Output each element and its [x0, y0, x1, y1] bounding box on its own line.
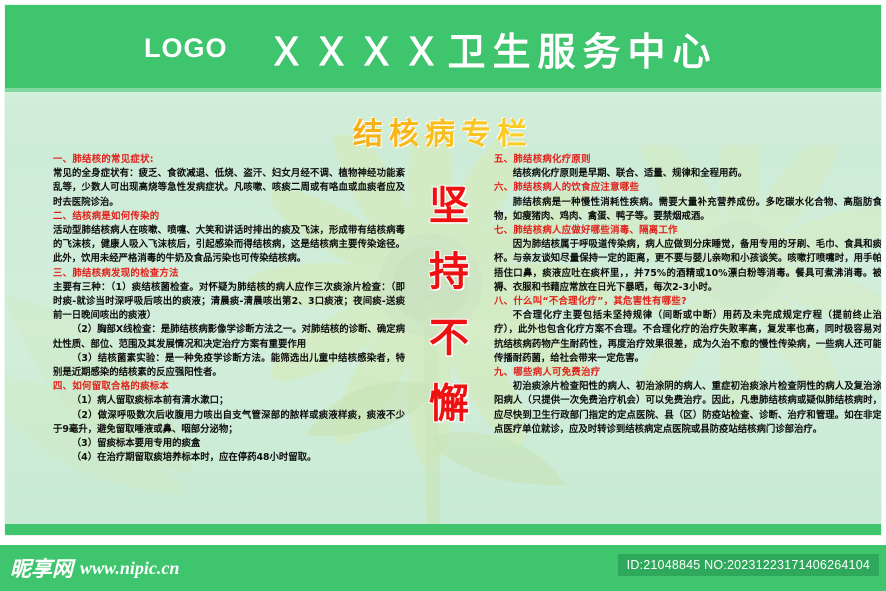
section-item: （2）胸部X线检查：是肺结核病影像学诊断方法之一。对肺结核的诊断、确定病灶性质、… — [53, 323, 405, 351]
poster-canvas: LOGO ＸＸＸＸ卫生服务中心 结核病专栏 坚 持 不 懈 一、肺结核的常见症状… — [0, 0, 886, 540]
section-body: 主要有三种：（1）痰结核菌检查。对怀疑为肺结核的病人应作三次痰涂片检查：（即时痰… — [53, 281, 405, 324]
site-url[interactable]: www.nipic.cn — [80, 558, 179, 579]
left-column: 一、肺结核的常见症状: 常见的全身症状有：疲乏、食欲减退、低烧、盗汗、妇女月经不… — [53, 153, 405, 465]
section-body: 肺结核病是一种慢性消耗性疾病。需要大量补充营养成份。多吃碳水化合物、高脂肪食物，… — [494, 196, 882, 224]
content-columns: 一、肺结核的常见症状: 常见的全身症状有：疲乏、食欲减退、低烧、盗汗、妇女月经不… — [5, 153, 881, 525]
section-body: 初治痰涂片检查阳性的病人、初治涂阴的病人、重症初治痰涂片检查阴性的病人及复治涂阳… — [494, 380, 882, 437]
site-logo: 昵享网 — [10, 553, 73, 583]
section-body: 活动型肺结核病人在咳嗽、喷嚏、大笑和讲话时排出的痰及飞沫，形成带有结核病毒的飞沫… — [53, 224, 405, 267]
section-item: （3）结核菌素实验：是一种免疫学诊断方法。能筛选出儿童中结核感染者，特别是近期感… — [53, 352, 405, 380]
section-body: 不合理化疗主要包括未坚持规律（间断或中断）用药及未完成规定疗程（提前终止治疗），… — [494, 309, 882, 366]
section-item: （1）病人留取痰标本前有清水漱口； — [53, 394, 405, 408]
section-item: （3）留痰标本要用专用的痰盒 — [53, 437, 405, 451]
right-column: 五、肺结核病化疗原则 结核病化疗原则是早期、联合、适量、规律和全程用药。 六、肺… — [494, 153, 882, 437]
page-title: 结核病专栏 — [5, 109, 881, 153]
section-heading: 七、肺结核病人应做好哪些消毒、隔离工作 — [494, 224, 882, 238]
section-body: 因为肺结核属于呼吸道传染病，病人应做到分床睡觉，备用专用的牙刷、毛巾、食具和痰杯… — [494, 238, 882, 295]
poster-page: LOGO ＸＸＸＸ卫生服务中心 结核病专栏 坚 持 不 懈 一、肺结核的常见症状… — [0, 0, 886, 591]
header-divider — [5, 88, 881, 92]
section-body: 常见的全身症状有：疲乏、食欲减退、低烧、盗汗、妇女月经不调、植物神经功能紊乱等，… — [53, 167, 405, 210]
section-heading: 四、如何留取合格的痰标本 — [53, 380, 405, 394]
poster-footer-bar — [5, 524, 881, 535]
section-heading: 八、什么叫“不合理化疗”，其危害性有哪些? — [494, 295, 882, 309]
section-heading: 六、肺结核病人的饮食应注意哪些 — [494, 181, 882, 195]
poster-body: LOGO ＸＸＸＸ卫生服务中心 结核病专栏 坚 持 不 懈 一、肺结核的常见症状… — [4, 4, 882, 536]
poster-header: LOGO ＸＸＸＸ卫生服务中心 — [5, 5, 881, 92]
section-heading: 二、结核病是如何传染的 — [53, 210, 405, 224]
section-body: 结核病化疗原则是早期、联合、适量、规律和全程用药。 — [494, 167, 882, 181]
section-heading: 九、哪些病人可免费治疗 — [494, 366, 882, 380]
organization-title: ＸＸＸＸ卫生服务中心 — [268, 21, 718, 76]
section-item: （4）在治疗期留取痰培养标本时，应在停药48小时留取。 — [53, 451, 405, 465]
section-item: （2）做深呼吸数次后收腹用力咳出自支气管深部的脓样或痰液样痰，痰液不少于9毫升，… — [53, 409, 405, 437]
section-heading: 五、肺结核病化疗原则 — [494, 153, 882, 167]
logo-text: LOGO — [144, 33, 228, 64]
section-heading: 三、肺结核病发现的检查方法 — [53, 267, 405, 281]
section-heading: 一、肺结核的常见症状: — [53, 153, 405, 167]
site-footer: 昵享网 www.nipic.cn ID:21048845 NO:20231223… — [0, 545, 886, 591]
asset-id-badge: ID:21048845 NO:20231223171406264104 — [618, 554, 879, 576]
